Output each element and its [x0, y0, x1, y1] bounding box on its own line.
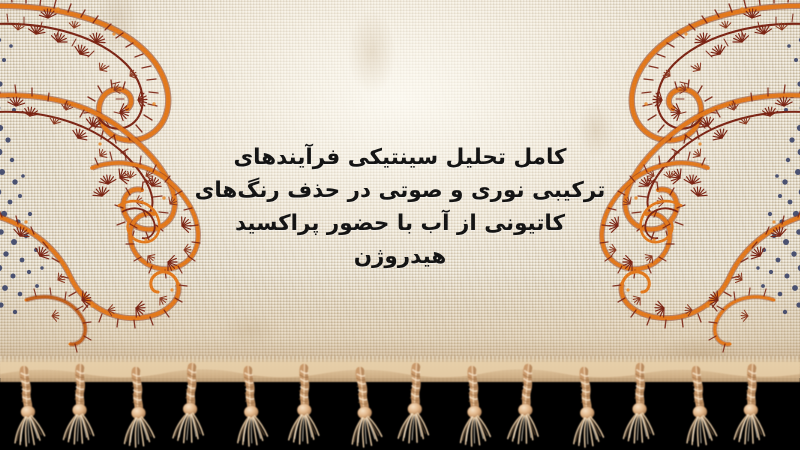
knotted-tassel-fringe [0, 362, 800, 450]
slide-title: کامل تحلیل سینتیکی فرآیندهای ترکیبی نوری… [140, 141, 660, 273]
slide-canvas: کامل تحلیل سینتیکی فرآیندهای ترکیبی نوری… [0, 0, 800, 450]
